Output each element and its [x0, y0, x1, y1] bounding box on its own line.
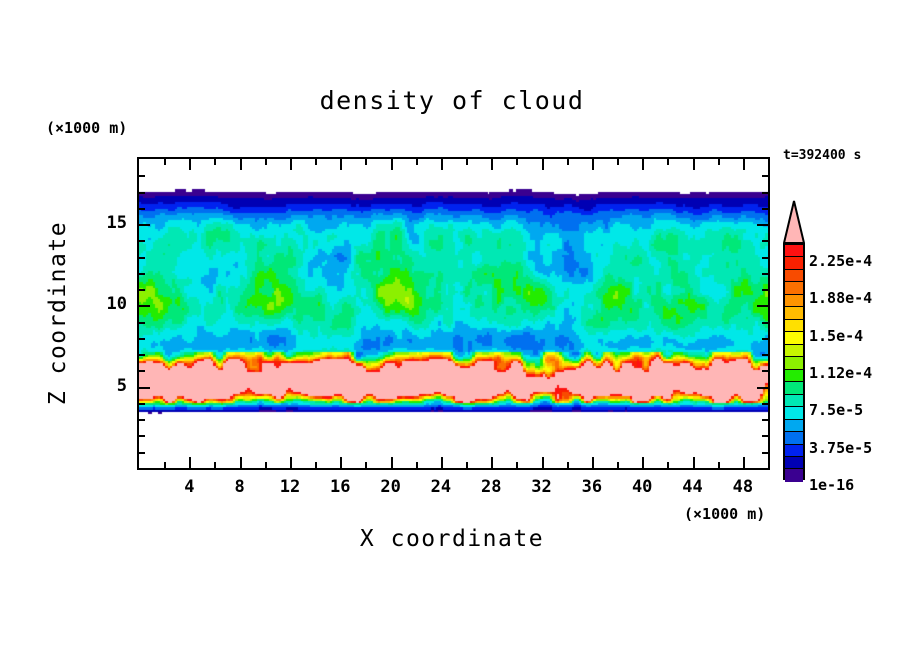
- x-tick-label: 40: [622, 477, 662, 497]
- cloud-density-field: [139, 159, 768, 468]
- x-major-tick: [491, 457, 493, 468]
- contour-plot-area: [137, 157, 770, 470]
- z-axis-unit-label: (×1000 m): [46, 119, 127, 137]
- x-major-tick-top: [542, 159, 544, 170]
- y-minor-tick-right: [762, 419, 768, 421]
- y-minor-tick-right: [762, 322, 768, 324]
- x-major-tick-top: [240, 159, 242, 170]
- y-minor-tick-right: [762, 403, 768, 405]
- y-minor-tick-right: [762, 338, 768, 340]
- colorbar-band: [785, 469, 803, 481]
- x-major-tick-top: [391, 159, 393, 170]
- y-minor-tick: [139, 452, 145, 454]
- x-major-tick-top: [340, 159, 342, 170]
- x-major-tick: [290, 457, 292, 468]
- x-minor-tick: [617, 462, 619, 468]
- x-major-tick: [441, 457, 443, 468]
- y-minor-tick: [139, 322, 145, 324]
- x-major-tick-top: [189, 159, 191, 170]
- x-minor-tick: [416, 462, 418, 468]
- y-minor-tick: [139, 419, 145, 421]
- colorbar-tick-label: 3.75e-5: [809, 439, 872, 457]
- y-minor-tick: [139, 240, 145, 242]
- x-minor-tick: [214, 462, 216, 468]
- y-minor-tick: [139, 257, 145, 259]
- y-minor-tick-right: [762, 257, 768, 259]
- x-tick-label: 16: [320, 477, 360, 497]
- colorbar-extend-arrow: [783, 200, 805, 244]
- chart-title: density of cloud: [0, 86, 904, 115]
- x-major-tick-top: [743, 159, 745, 170]
- colorbar-band: [785, 332, 803, 344]
- colorbar-tick-label: 1e-16: [809, 476, 854, 494]
- y-major-tick-right: [757, 387, 768, 389]
- x-major-tick-top: [642, 159, 644, 170]
- colorbar-tick-label: 1.12e-4: [809, 364, 872, 382]
- x-minor-tick-top: [265, 159, 267, 165]
- colorbar-tick-label: 2.25e-4: [809, 252, 872, 270]
- colorbar-band: [785, 370, 803, 382]
- y-tick-label: 15: [87, 213, 127, 233]
- colorbar-band: [785, 395, 803, 407]
- y-minor-tick: [139, 370, 145, 372]
- x-tick-label: 44: [673, 477, 713, 497]
- colorbar-band: [785, 457, 803, 469]
- colorbar-band: [785, 432, 803, 444]
- colorbar-band: [785, 445, 803, 457]
- x-major-tick: [693, 457, 695, 468]
- x-minor-tick-top: [466, 159, 468, 165]
- x-minor-tick: [265, 462, 267, 468]
- x-minor-tick-top: [718, 159, 720, 165]
- colorbar-band: [785, 407, 803, 419]
- y-minor-tick: [139, 208, 145, 210]
- y-minor-tick: [139, 192, 145, 194]
- x-minor-tick: [718, 462, 720, 468]
- y-major-tick: [139, 387, 150, 389]
- colorbar-band: [785, 282, 803, 294]
- x-minor-tick: [164, 462, 166, 468]
- x-major-tick-top: [693, 159, 695, 170]
- x-major-tick: [240, 457, 242, 468]
- x-minor-tick: [315, 462, 317, 468]
- y-major-tick: [139, 224, 150, 226]
- colorbar-band: [785, 295, 803, 307]
- y-major-tick-right: [757, 224, 768, 226]
- x-axis-title: X coordinate: [0, 526, 904, 552]
- y-axis-title: Z coordinate: [45, 213, 71, 413]
- x-tick-label: 4: [169, 477, 209, 497]
- colorbar-band: [785, 245, 803, 257]
- x-tick-label: 32: [522, 477, 562, 497]
- x-minor-tick-top: [164, 159, 166, 165]
- x-major-tick: [642, 457, 644, 468]
- x-tick-label: 24: [421, 477, 461, 497]
- y-minor-tick-right: [762, 240, 768, 242]
- colorbar: [779, 200, 807, 480]
- y-major-tick-right: [757, 305, 768, 307]
- y-minor-tick: [139, 175, 145, 177]
- y-minor-tick-right: [762, 435, 768, 437]
- x-tick-label: 12: [270, 477, 310, 497]
- x-tick-label: 8: [220, 477, 260, 497]
- y-minor-tick-right: [762, 208, 768, 210]
- x-major-tick: [340, 457, 342, 468]
- x-tick-label: 20: [371, 477, 411, 497]
- x-minor-tick: [667, 462, 669, 468]
- y-major-tick: [139, 305, 150, 307]
- x-minor-tick: [516, 462, 518, 468]
- x-tick-label: 36: [572, 477, 612, 497]
- x-tick-label: 28: [471, 477, 511, 497]
- x-minor-tick-top: [567, 159, 569, 165]
- x-minor-tick-top: [416, 159, 418, 165]
- colorbar-band: [785, 270, 803, 282]
- x-minor-tick: [567, 462, 569, 468]
- colorbar-band: [785, 345, 803, 357]
- y-minor-tick: [139, 403, 145, 405]
- x-major-tick-top: [441, 159, 443, 170]
- x-minor-tick-top: [516, 159, 518, 165]
- colorbar-band: [785, 307, 803, 319]
- y-minor-tick-right: [762, 354, 768, 356]
- y-minor-tick-right: [762, 273, 768, 275]
- y-minor-tick: [139, 273, 145, 275]
- x-major-tick: [542, 457, 544, 468]
- y-minor-tick-right: [762, 289, 768, 291]
- colorbar-band: [785, 420, 803, 432]
- x-major-tick: [743, 457, 745, 468]
- y-minor-tick-right: [762, 370, 768, 372]
- colorbar-band: [785, 257, 803, 269]
- x-minor-tick-top: [315, 159, 317, 165]
- y-minor-tick: [139, 289, 145, 291]
- colorbar-tick-label: 1.5e-4: [809, 327, 863, 345]
- x-major-tick-top: [491, 159, 493, 170]
- colorbar-tick-label: 7.5e-5: [809, 401, 863, 419]
- x-major-tick-top: [592, 159, 594, 170]
- y-tick-label: 5: [87, 376, 127, 396]
- colorbar-bands: [783, 243, 805, 480]
- colorbar-band: [785, 382, 803, 394]
- colorbar-band: [785, 320, 803, 332]
- y-minor-tick-right: [762, 452, 768, 454]
- x-minor-tick-top: [365, 159, 367, 165]
- x-major-tick: [391, 457, 393, 468]
- x-minor-tick: [466, 462, 468, 468]
- time-annotation: t=392400 s: [783, 148, 861, 163]
- x-axis-unit-label: (×1000 m): [684, 505, 765, 523]
- x-major-tick: [592, 457, 594, 468]
- y-minor-tick: [139, 435, 145, 437]
- x-minor-tick: [365, 462, 367, 468]
- x-minor-tick-top: [617, 159, 619, 165]
- y-minor-tick: [139, 338, 145, 340]
- y-minor-tick: [139, 354, 145, 356]
- x-minor-tick-top: [214, 159, 216, 165]
- y-tick-label: 10: [87, 294, 127, 314]
- y-minor-tick-right: [762, 192, 768, 194]
- x-tick-label: 48: [723, 477, 763, 497]
- x-major-tick: [189, 457, 191, 468]
- x-major-tick-top: [290, 159, 292, 170]
- colorbar-tick-label: 1.88e-4: [809, 289, 872, 307]
- x-minor-tick-top: [667, 159, 669, 165]
- colorbar-band: [785, 357, 803, 369]
- y-minor-tick-right: [762, 175, 768, 177]
